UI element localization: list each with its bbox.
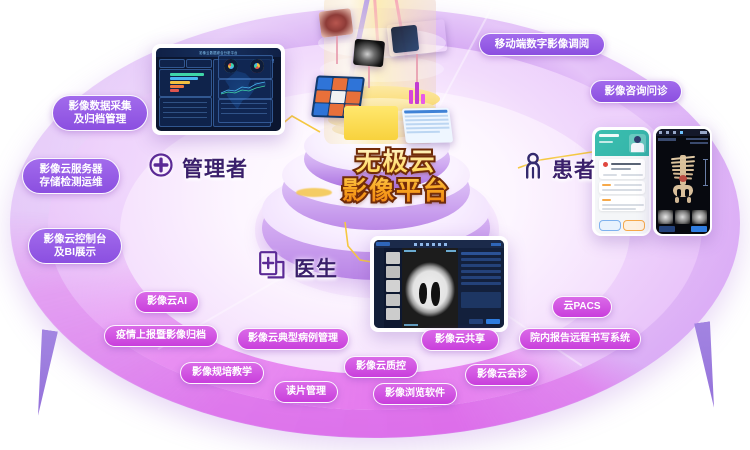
mini-screen-stem-1 (336, 36, 338, 64)
bi-dashboard-screen: 影像云数据综合分析平台 (156, 48, 281, 131)
pill-admin-1[interactable]: 影像云服务器存储检测运维 (22, 158, 120, 194)
pill-doctor-9[interactable]: 云PACS (552, 296, 612, 318)
pill-admin-0[interactable]: 影像数据采集及归档管理 (52, 95, 148, 131)
phone-viewer-screen (656, 129, 710, 234)
phone-consultation-screen (595, 130, 649, 234)
document-plus-icon (258, 250, 286, 285)
pill-doctor-10[interactable]: 院内报告远程书写系统 (519, 328, 641, 350)
pacs-viewer-screen (374, 240, 504, 328)
phone-detail-card-1[interactable] (599, 181, 645, 194)
pill-doctor-6[interactable]: 影像浏览软件 (373, 383, 457, 405)
role-administrator-label: 管理者 (182, 153, 248, 183)
pacs-tool-rail[interactable] (374, 248, 384, 328)
mini-screen-angiography-left-pane (391, 25, 420, 54)
pacs-ct-image[interactable] (402, 248, 458, 328)
role-patient-label: 患者 (552, 154, 596, 184)
pill-doctor-1[interactable]: 疫情上报暨影像归档 (104, 325, 218, 347)
role-patient[interactable]: 患者 (522, 152, 596, 185)
device-phone-image-viewer[interactable] (653, 126, 712, 236)
phone-viewer-toolbar[interactable] (656, 129, 710, 136)
pill-doctor-3[interactable]: 影像规培教学 (180, 362, 264, 384)
device-bi-dashboard[interactable]: 影像云数据综合分析平台 (152, 44, 285, 135)
role-doctor-label: 医生 (294, 253, 338, 283)
device-phone-consultation[interactable] (592, 127, 651, 236)
tower-tile-gold-panel (344, 106, 398, 140)
circle-plus-icon (148, 152, 174, 183)
pill-doctor-4[interactable]: 读片管理 (274, 381, 338, 403)
person-icon (522, 152, 544, 185)
tower-tile-report-table (402, 108, 454, 144)
pill-doctor-0[interactable]: 影像云AI (135, 291, 199, 313)
pacs-report-panel[interactable] (458, 248, 504, 328)
platform-title-line-1: 无极云 (355, 148, 436, 176)
role-doctor[interactable]: 医生 (258, 250, 338, 285)
pill-patient-0[interactable]: 移动端数字影像调阅 (479, 33, 605, 56)
platform-title: 无极云 影像平台 (316, 148, 476, 206)
pill-patient-1[interactable]: 影像咨询问诊 (590, 80, 682, 103)
phone-viewer-thumbnails[interactable] (658, 210, 708, 224)
pill-doctor-2[interactable]: 影像云典型病例管理 (237, 328, 349, 350)
mini-screen-endoscopy (319, 8, 354, 38)
device-pacs-viewer[interactable] (370, 236, 508, 332)
platform-title-line-2: 影像平台 (342, 177, 450, 205)
phone-detail-card-2[interactable] (599, 196, 645, 211)
bi-dashboard-title: 影像云数据综合分析平台 (199, 50, 237, 55)
pacs-thumbnail-strip[interactable] (384, 248, 402, 328)
phone-consultation-header (595, 130, 649, 156)
pill-admin-2[interactable]: 影像云控制台及BI展示 (28, 228, 122, 264)
pill-doctor-8[interactable]: 影像云会诊 (465, 364, 539, 386)
mini-screen-stem-2 (368, 66, 370, 88)
tower-tile-bar-chart (408, 78, 428, 104)
pill-doctor-5[interactable]: 影像云质控 (344, 356, 418, 378)
mini-screen-ultrasound (353, 39, 385, 68)
edge-wedge-left (30, 329, 58, 416)
edge-wedge-right (694, 321, 722, 408)
pill-doctor-7[interactable]: 影像云共享 (421, 329, 499, 351)
infographic-canvas: 影像云数据综合分析平台 (0, 0, 750, 450)
phone-3d-skeleton-render (668, 155, 698, 203)
phone-hospital-card[interactable] (599, 159, 645, 179)
bi-map-panel (213, 59, 271, 127)
bi-bar-chart-panel (159, 69, 212, 97)
bi-table-panel-left (159, 97, 212, 127)
role-administrator[interactable]: 管理者 (148, 152, 248, 183)
